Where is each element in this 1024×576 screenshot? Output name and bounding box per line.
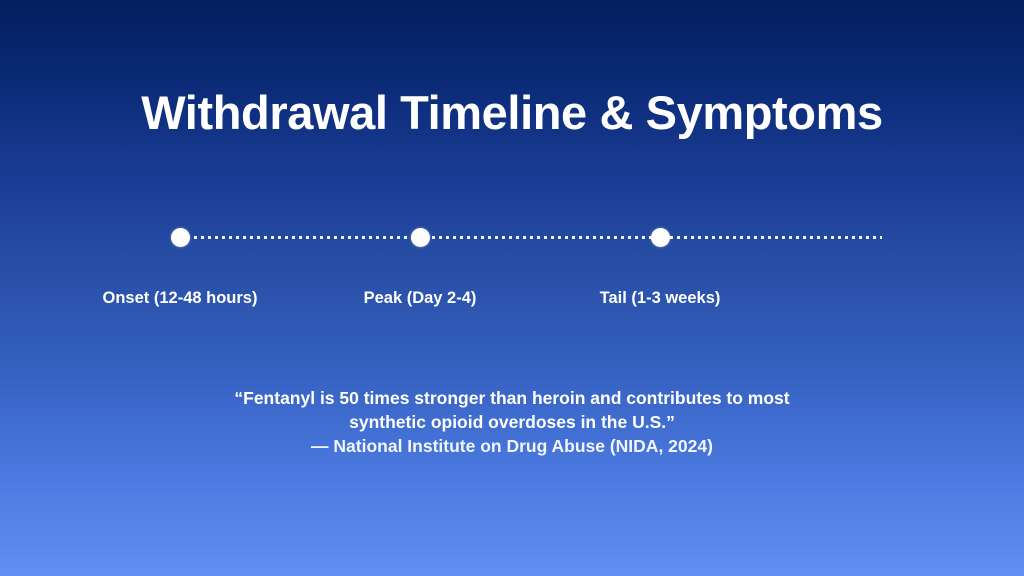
quote-line-1: “Fentanyl is 50 times stronger than hero… [0, 386, 1024, 410]
source-quote-block: “Fentanyl is 50 times stronger than hero… [0, 386, 1024, 458]
timeline-marker-onset[interactable] [171, 228, 190, 247]
timeline-label-tail: Tail (1-3 weeks) [500, 289, 820, 308]
withdrawal-timeline: Onset (12-48 hours) Peak (Day 2-4) Tail … [0, 206, 1024, 326]
timeline-dotted-line [180, 236, 882, 239]
slide-canvas: Withdrawal Timeline & Symptoms Onset (12… [0, 0, 1024, 576]
page-title: Withdrawal Timeline & Symptoms [0, 84, 1024, 142]
timeline-marker-tail[interactable] [651, 228, 670, 247]
timeline-marker-peak[interactable] [411, 228, 430, 247]
quote-attribution: — National Institute on Drug Abuse (NIDA… [0, 434, 1024, 458]
quote-line-2: synthetic opioid overdoses in the U.S.” [0, 410, 1024, 434]
